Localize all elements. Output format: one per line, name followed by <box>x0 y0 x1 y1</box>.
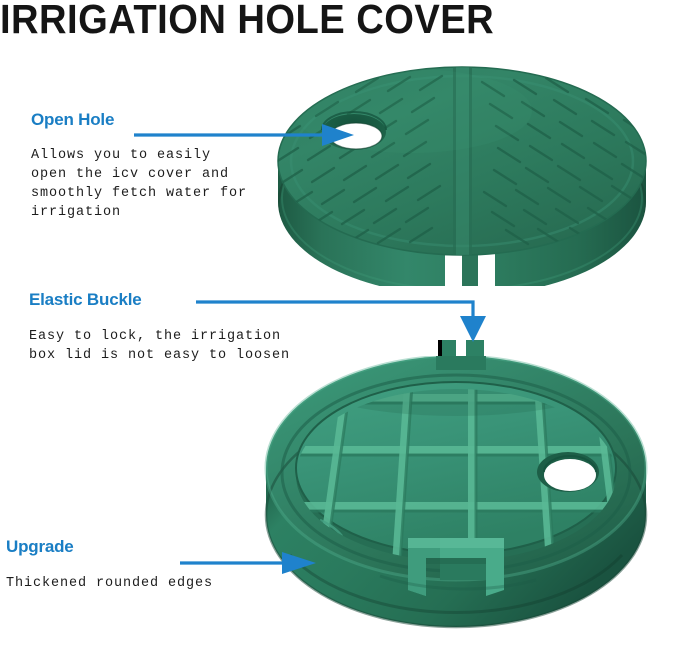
callout-body-open-hole: Allows you to easily open the icv cover … <box>31 146 301 222</box>
infographic-page: IRRIGATION HOLE COVER <box>0 0 679 661</box>
irrigation-hole-cover-lid-image <box>262 56 662 286</box>
irrigation-hole-cover-base-image <box>250 340 662 655</box>
callout-heading-upgrade: Upgrade <box>6 537 74 557</box>
callout-arrow-upgrade <box>176 548 326 578</box>
page-title: IRRIGATION HOLE COVER <box>0 0 558 42</box>
lid-top-face <box>276 66 648 256</box>
callout-heading-elastic-buckle: Elastic Buckle <box>29 290 141 310</box>
base-open-hole <box>537 452 599 492</box>
callout-arrow-open-hole <box>130 120 360 150</box>
callout-arrow-elastic-buckle <box>192 290 492 350</box>
callout-heading-open-hole: Open Hole <box>31 110 114 130</box>
